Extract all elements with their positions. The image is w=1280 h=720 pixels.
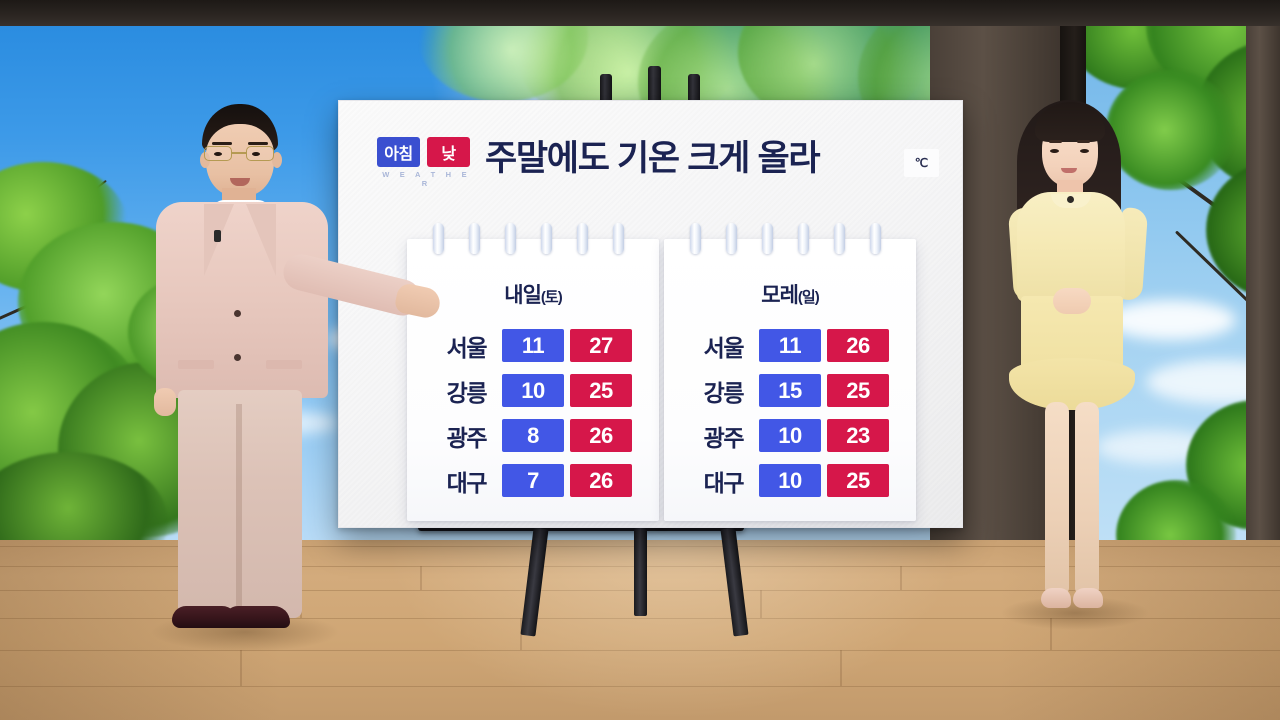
binder-ring-icon	[469, 223, 480, 254]
wall-pillar-right	[1246, 0, 1280, 548]
table-row: 강릉 15 25	[664, 368, 916, 413]
eye-right	[252, 152, 260, 156]
legend-badge-day: 낮	[427, 137, 470, 167]
skirt-flare	[1009, 358, 1135, 410]
binder-ring-icon	[433, 223, 444, 254]
table-row: 대구 10 25	[664, 458, 916, 503]
max-temp-chip: 23	[827, 419, 889, 452]
table-row: 서울 11 26	[664, 323, 916, 368]
panel-day-sub: (일)	[798, 289, 819, 306]
binder-ring-icon	[690, 223, 701, 254]
eye-left	[1050, 149, 1059, 153]
binder-rings	[407, 223, 659, 255]
board-header: 아침 낮 W E A T H E R 주말에도 기온 크게 올라 ℃	[339, 135, 962, 197]
lapel-microphone-icon	[214, 230, 221, 242]
city-label: 광주	[434, 419, 496, 453]
forecast-panel-tomorrow: 내일(토) 서울 11 27 강릉 10 25 광주 8	[407, 239, 659, 521]
binder-rings	[664, 223, 916, 255]
female-weather-anchor	[995, 96, 1165, 636]
eyebrow-left	[212, 142, 232, 145]
city-label: 광주	[691, 419, 753, 453]
city-label: 강릉	[691, 374, 753, 408]
table-row: 대구 7 26	[407, 458, 659, 503]
binder-ring-icon	[541, 223, 552, 254]
panel-day-label: 모레(일)	[664, 279, 916, 309]
min-temp-chip: 15	[759, 374, 821, 407]
studio-stage: 아침 낮 W E A T H E R 주말에도 기온 크게 올라 ℃	[0, 0, 1280, 720]
eye-left	[214, 152, 222, 156]
min-temp-chip: 11	[502, 329, 564, 362]
temperature-unit-label: ℃	[904, 149, 939, 177]
yellow-blouse	[1017, 192, 1125, 302]
table-row: 강릉 10 25	[407, 368, 659, 413]
city-label: 서울	[691, 329, 753, 363]
shoe-right	[224, 606, 290, 628]
max-temp-chip: 27	[570, 329, 632, 362]
resting-hand	[154, 388, 176, 416]
clasped-hands	[1053, 288, 1091, 314]
city-label: 대구	[434, 464, 496, 498]
min-temp-chip: 10	[759, 464, 821, 497]
lapel-right	[246, 204, 276, 276]
city-label: 대구	[691, 464, 753, 498]
table-row: 광주 10 23	[664, 413, 916, 458]
min-temp-chip: 10	[759, 419, 821, 452]
binder-ring-icon	[613, 223, 624, 254]
eye-right	[1080, 149, 1089, 153]
table-row: 광주 8 26	[407, 413, 659, 458]
max-temp-chip: 25	[827, 374, 889, 407]
ceiling-beam	[0, 0, 1280, 26]
max-temp-chip: 25	[827, 464, 889, 497]
min-temp-chip: 10	[502, 374, 564, 407]
binder-ring-icon	[798, 223, 809, 254]
min-temp-chip: 11	[759, 329, 821, 362]
eyebrow-left	[1049, 140, 1062, 143]
max-temp-chip: 26	[570, 419, 632, 452]
binder-ring-icon	[577, 223, 588, 254]
binder-ring-icon	[505, 223, 516, 254]
city-label: 서울	[434, 329, 496, 363]
binder-ring-icon	[870, 223, 881, 254]
panel-day-label: 내일(토)	[407, 279, 659, 309]
leg-left	[1045, 402, 1069, 594]
binder-ring-icon	[834, 223, 845, 254]
min-temp-chip: 7	[502, 464, 564, 497]
eyebrow-right	[1077, 140, 1090, 143]
shoe-left	[1041, 588, 1071, 608]
jacket-button	[234, 310, 241, 317]
male-weather-presenter	[148, 104, 428, 639]
shoe-right	[1073, 588, 1103, 608]
max-temp-chip: 26	[827, 329, 889, 362]
brooch-icon	[1067, 196, 1074, 203]
forecast-rows: 서울 11 27 강릉 10 25 광주 8 26	[407, 323, 659, 503]
panel-day-sub: (토)	[541, 289, 562, 306]
panel-day-main: 모레	[761, 284, 798, 307]
max-temp-chip: 25	[570, 374, 632, 407]
binder-ring-icon	[762, 223, 773, 254]
trouser-seam	[236, 404, 242, 618]
table-row: 서울 11 27	[407, 323, 659, 368]
mouth	[1061, 168, 1077, 173]
forecast-panels: 내일(토) 서울 11 27 강릉 10 25 광주 8	[339, 221, 962, 511]
jacket-button	[234, 354, 241, 361]
min-temp-chip: 8	[502, 419, 564, 452]
leg-right	[1075, 402, 1099, 594]
max-temp-chip: 26	[570, 464, 632, 497]
forecast-panel-day-after: 모레(일) 서울 11 26 강릉 15 25 광주 10	[664, 239, 916, 521]
jacket-pocket-left	[178, 360, 214, 369]
city-label: 강릉	[434, 374, 496, 408]
forecast-rows: 서울 11 26 강릉 15 25 광주 10 23	[664, 323, 916, 503]
jacket-pocket-right	[266, 360, 302, 369]
eyebrow-right	[248, 142, 268, 145]
binder-ring-icon	[726, 223, 737, 254]
board-title: 주말에도 기온 크게 올라	[485, 133, 905, 185]
panel-day-main: 내일	[504, 284, 541, 307]
